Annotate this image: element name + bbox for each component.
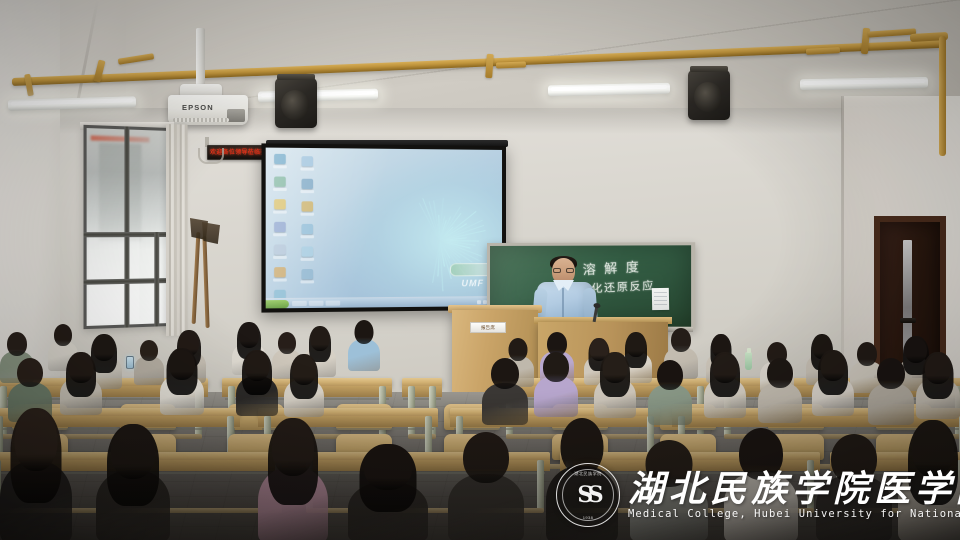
audience-head <box>272 420 314 476</box>
audience-member <box>916 352 960 418</box>
projector-vent <box>173 118 229 122</box>
audience-member <box>348 318 380 370</box>
desktop-icon-label <box>300 235 314 238</box>
desktop-icon-glyph <box>302 269 314 279</box>
audience-member <box>0 408 72 540</box>
audience-head <box>767 358 793 388</box>
audience-member <box>868 356 914 424</box>
audience-member <box>348 444 428 540</box>
ceiling-speaker <box>688 70 730 120</box>
desktop-icon-6[interactable] <box>273 267 287 283</box>
audience-head <box>831 434 877 484</box>
desktop-icon-label <box>273 256 287 259</box>
audience-head <box>491 358 519 389</box>
audience-torso <box>630 479 708 540</box>
audience-head <box>646 440 693 487</box>
audience-head <box>657 360 683 390</box>
audience-head <box>17 358 43 387</box>
desktop-icon-column-right <box>300 156 314 284</box>
audience-head <box>169 350 195 380</box>
audience-member <box>898 420 960 540</box>
audience-member <box>448 430 524 540</box>
audience-torso <box>448 474 524 540</box>
audience-head <box>739 428 783 480</box>
wall-hook-icon <box>198 148 224 164</box>
desktop-icon-column-left <box>273 154 287 309</box>
desktop-icon-c[interactable] <box>300 201 314 216</box>
window-outside-view <box>99 143 141 242</box>
audience-torso <box>758 382 802 423</box>
posted-notice-sheet <box>652 288 669 310</box>
broom-head-icon <box>202 222 220 244</box>
desktop-icon-label <box>300 167 314 170</box>
audience-head <box>463 432 509 483</box>
ceiling-projector: EPSON <box>168 95 248 125</box>
audience-member <box>758 356 802 422</box>
desktop-icon-label <box>273 233 287 236</box>
desktop-icon-glyph <box>274 244 286 254</box>
audience-head <box>925 354 951 384</box>
screen-glare <box>266 148 410 309</box>
desktop-icon-label <box>273 210 287 213</box>
notice-text-lines <box>654 292 667 306</box>
audience-torso <box>724 472 798 540</box>
desktop-icon-label <box>300 258 314 261</box>
audience-head <box>140 340 158 361</box>
audience-member <box>648 358 692 424</box>
audience-member <box>258 418 328 540</box>
audience-head <box>603 354 628 383</box>
audience-head <box>364 446 412 490</box>
desktop-icon-4[interactable] <box>273 222 287 237</box>
podium-name-card: 报告席 <box>470 322 506 333</box>
taskbar-item[interactable] <box>292 301 307 306</box>
start-button[interactable] <box>266 299 289 307</box>
audience-member <box>546 416 618 540</box>
desktop-icon-glyph <box>274 222 286 232</box>
audience-member <box>630 438 708 540</box>
audience-member <box>160 348 204 414</box>
window-mullion-vertical <box>124 126 129 327</box>
speaker-bracket <box>690 66 728 72</box>
taskbar-item[interactable] <box>326 301 341 306</box>
screen-surface[interactable]: UMF <box>266 148 502 309</box>
audience-head <box>54 324 72 346</box>
audience-torso <box>868 383 914 425</box>
screen-watermark-text: UMF <box>461 278 484 288</box>
desktop-icon-label <box>300 190 314 193</box>
desktop-icon-glyph <box>302 179 314 189</box>
water-bottle <box>745 352 752 370</box>
audience-head <box>239 324 259 348</box>
audience-head <box>912 422 954 477</box>
audience-head <box>311 328 330 351</box>
desktop-icon-glyph <box>274 199 286 209</box>
audience-head <box>713 354 738 383</box>
desktop-icon-label <box>273 165 287 168</box>
desktop-icon-1[interactable] <box>273 154 287 170</box>
smartphone-screen <box>126 356 134 369</box>
audience-head <box>821 352 846 381</box>
audience-head <box>245 352 270 381</box>
tray-icon[interactable] <box>477 300 481 304</box>
desktop-icon-a[interactable] <box>300 156 314 171</box>
audience-member <box>284 354 324 416</box>
desktop-icon-3[interactable] <box>273 199 287 214</box>
audience-member <box>96 424 170 540</box>
audience-torso <box>482 383 528 425</box>
desktop-icon-glyph <box>302 224 314 234</box>
audience-head <box>111 426 155 479</box>
audience-head <box>69 354 94 383</box>
audience-member <box>236 350 278 414</box>
desktop-icon-5[interactable] <box>273 244 287 259</box>
desktop-icon-b[interactable] <box>300 179 314 194</box>
desktop-icon-d[interactable] <box>300 224 314 239</box>
audience-head <box>292 356 316 385</box>
audience-torso <box>816 475 892 540</box>
audience-head <box>877 358 905 389</box>
desktop-icon-f[interactable] <box>300 269 314 284</box>
pipe-downspout <box>939 36 946 156</box>
projector-mount-pole <box>196 28 205 90</box>
desktop-icon-e[interactable] <box>300 246 314 261</box>
desktop-icon-label <box>300 280 314 283</box>
audience-member <box>60 352 102 414</box>
desktop-icon-label <box>300 213 314 216</box>
desk-leg <box>537 460 544 512</box>
speaker-bracket <box>277 74 315 80</box>
desktop-icon-glyph <box>274 176 286 186</box>
audience-member <box>704 352 746 416</box>
audience-head <box>278 332 296 354</box>
audience-member <box>482 356 528 424</box>
desktop-icon-glyph <box>274 154 286 164</box>
window-curtain <box>166 124 188 336</box>
audience-head <box>7 332 27 356</box>
audience-head <box>355 320 374 344</box>
audience-member <box>724 426 798 540</box>
audience-member <box>594 352 636 416</box>
lecture-hall-photo: EPSON 欢迎各位领导莅临指导 10:26:13 UMF <box>0 0 960 540</box>
projection-screen: UMF <box>261 143 506 312</box>
projector-lens-icon <box>227 109 245 122</box>
window-red-reflection <box>91 135 150 142</box>
left-window <box>84 125 170 329</box>
desktop-icon-label <box>273 188 287 191</box>
audience-head <box>15 410 58 471</box>
pipe-bracket <box>496 61 526 68</box>
desktop-icon-glyph <box>302 156 314 166</box>
audience-member <box>534 350 578 416</box>
desktop-icon-2[interactable] <box>273 176 287 192</box>
desktop-icon-glyph <box>302 246 314 256</box>
desk-leg <box>807 460 814 512</box>
ceiling-speaker <box>275 78 317 128</box>
projector-brand-label: EPSON <box>182 103 214 112</box>
desktop-icon-glyph <box>274 267 286 277</box>
audience-torso <box>546 466 618 540</box>
audience-head <box>671 328 691 352</box>
desktop-icon-glyph <box>302 201 314 211</box>
audience-member <box>812 350 854 414</box>
desktop-icon-label <box>273 278 287 281</box>
glasses-icon <box>553 268 574 273</box>
taskbar-item[interactable] <box>309 301 324 306</box>
audience-head <box>561 418 604 475</box>
audience-member <box>816 432 892 540</box>
audience-torso <box>648 384 692 425</box>
audience-head <box>543 352 569 382</box>
fluorescent-tube-light <box>800 77 928 90</box>
window-mullion-vertical <box>154 232 159 327</box>
audience-torso <box>534 376 578 417</box>
